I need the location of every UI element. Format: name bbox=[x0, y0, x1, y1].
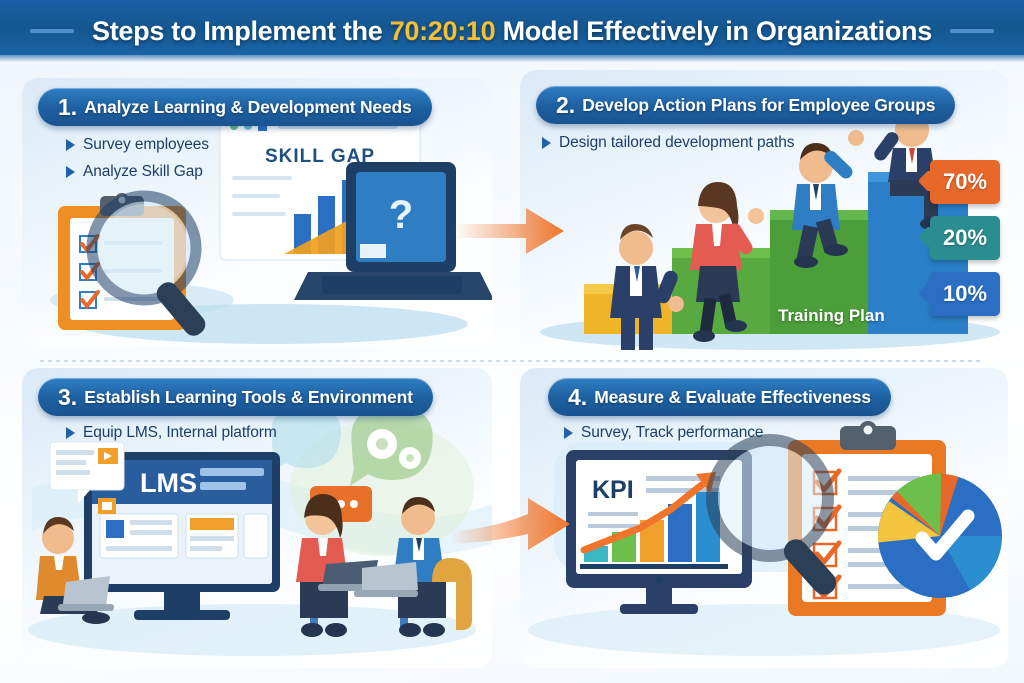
page-title-prefix: Steps to Implement the bbox=[92, 16, 390, 46]
bullet-label: Analyze Skill Gap bbox=[83, 163, 203, 181]
bullet-item: Analyze Skill Gap bbox=[66, 163, 209, 181]
badge-70: 70% bbox=[930, 160, 1000, 204]
bullet-label: Survey employees bbox=[83, 136, 209, 154]
svg-text:?: ? bbox=[389, 193, 413, 237]
panel-2-bullets: Design tailored development paths bbox=[542, 134, 794, 161]
bullet-triangle-icon bbox=[564, 427, 573, 439]
bullet-item: Equip LMS, Internal platform bbox=[66, 424, 277, 442]
training-plan-step-label: Training Plan bbox=[778, 306, 885, 326]
panel-2-header: 2. Develop Action Plans for Employee Gro… bbox=[536, 86, 955, 124]
bullet-triangle-icon bbox=[542, 137, 551, 149]
arrow-step3-to-step4 bbox=[448, 492, 576, 558]
panel-3-bullets: Equip LMS, Internal platform bbox=[66, 424, 277, 451]
page-title-highlight: 70:20:10 bbox=[390, 16, 496, 46]
panel-4-number: 4. bbox=[568, 384, 587, 411]
bullet-item: Design tailored development paths bbox=[542, 134, 794, 152]
page-title: Steps to Implement the 70:20:10 Model Ef… bbox=[92, 16, 932, 47]
panel-step-1: SKILL GAP ? bbox=[22, 78, 492, 346]
panel-step-3: LMS bbox=[22, 368, 492, 668]
badge-20-label: 20% bbox=[943, 225, 987, 251]
svg-text:LMS: LMS bbox=[140, 468, 197, 498]
bullet-triangle-icon bbox=[66, 427, 75, 439]
panel-2-number: 2. bbox=[556, 92, 575, 119]
badge-70-label: 70% bbox=[943, 169, 987, 195]
infographic-header: Steps to Implement the 70:20:10 Model Ef… bbox=[0, 0, 1024, 62]
infographic-canvas: Steps to Implement the 70:20:10 Model Ef… bbox=[0, 0, 1024, 683]
panel-1-number: 1. bbox=[58, 94, 77, 121]
badge-10: 10% bbox=[930, 272, 1000, 316]
panel-4-title: Measure & Evaluate Effectiveness bbox=[594, 387, 871, 408]
section-divider bbox=[40, 360, 984, 362]
panel-4-bullets: Survey, Track performance bbox=[564, 424, 763, 451]
panel-1-title: Analyze Learning & Development Needs bbox=[84, 97, 411, 118]
bullet-item: Survey employees bbox=[66, 136, 209, 154]
arrow-step1-to-step2 bbox=[452, 200, 570, 262]
panel-3-header: 3. Establish Learning Tools & Environmen… bbox=[38, 378, 433, 416]
bullet-label: Survey, Track performance bbox=[581, 424, 763, 442]
panel-4-header: 4. Measure & Evaluate Effectiveness bbox=[548, 378, 891, 416]
title-rule-left bbox=[30, 29, 74, 33]
title-rule-right bbox=[950, 29, 994, 33]
bullet-item: Survey, Track performance bbox=[564, 424, 763, 442]
badge-20: 20% bbox=[930, 216, 1000, 260]
bullet-label: Design tailored development paths bbox=[559, 134, 794, 152]
bullet-triangle-icon bbox=[66, 166, 75, 178]
page-title-suffix: Model Effectively in Organizations bbox=[495, 16, 932, 46]
panel-3-title: Establish Learning Tools & Environment bbox=[84, 387, 413, 408]
panel-2-title: Develop Action Plans for Employee Groups bbox=[582, 95, 935, 116]
panel-1-header: 1. Analyze Learning & Development Needs bbox=[38, 88, 432, 126]
panel-3-number: 3. bbox=[58, 384, 77, 411]
panel-1-bullets: Survey employees Analyze Skill Gap bbox=[66, 136, 209, 190]
panel-step-4: KPI bbox=[520, 368, 1008, 668]
panel-step-2: Training Plan 70% 20% 10% 2. Develop Act… bbox=[520, 70, 1008, 350]
badge-10-label: 10% bbox=[943, 281, 987, 307]
ratio-badges: 70% 20% 10% bbox=[930, 160, 1000, 328]
bullet-label: Equip LMS, Internal platform bbox=[83, 424, 277, 442]
svg-text:KPI: KPI bbox=[592, 476, 634, 504]
bullet-triangle-icon bbox=[66, 139, 75, 151]
